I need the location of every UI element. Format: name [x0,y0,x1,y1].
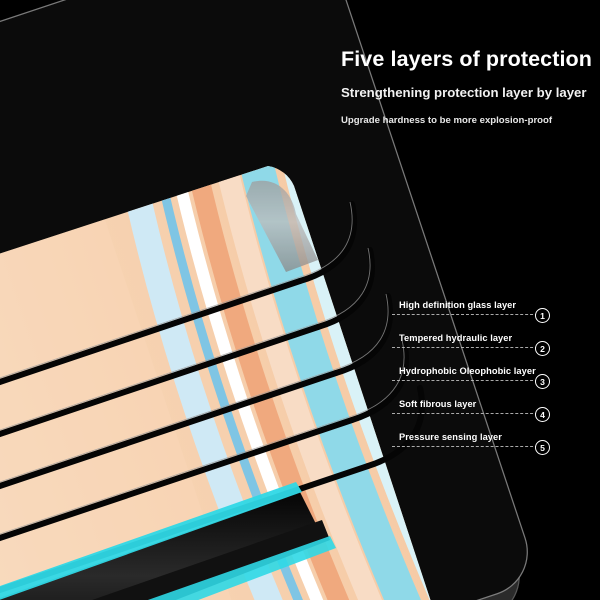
legend-rule-2 [392,347,538,348]
legend-rule-4 [392,413,538,414]
headings-block: Five layers of protection Strengthening … [341,46,593,127]
legend-number-4: 4 [535,407,550,422]
legend-number-2: 2 [535,341,550,356]
legend-label-5: Pressure sensing layer [399,432,502,442]
legend-label-3: Hydrophobic Oleophobic layer [399,366,536,376]
legend-number-1: 1 [535,308,550,323]
legend-rule-3 [392,380,538,381]
legend-row-1: High definition glass layer 1 [392,293,552,315]
legend-rule-5 [392,446,538,447]
legend-label-2: Tempered hydraulic layer [399,333,512,343]
legend-row-3: Hydrophobic Oleophobic layer 3 [392,359,552,381]
legend-row-5: Pressure sensing layer 5 [392,425,552,447]
legend-number-5: 5 [535,440,550,455]
legend-number-3: 3 [535,374,550,389]
page-tagline: Upgrade hardness to be more explosion-pr… [341,114,593,127]
page-subtitle: Strengthening protection layer by layer [341,84,593,101]
legend-label-1: High definition glass layer [399,300,516,310]
product-illustration-screen: Five layers of protection Strengthening … [0,0,600,600]
legend-rule-1 [392,314,538,315]
legend-label-4: Soft fibrous layer [399,399,476,409]
legend-row-4: Soft fibrous layer 4 [392,392,552,414]
legend-row-2: Tempered hydraulic layer 2 [392,326,552,348]
page-title: Five layers of protection [341,46,593,72]
